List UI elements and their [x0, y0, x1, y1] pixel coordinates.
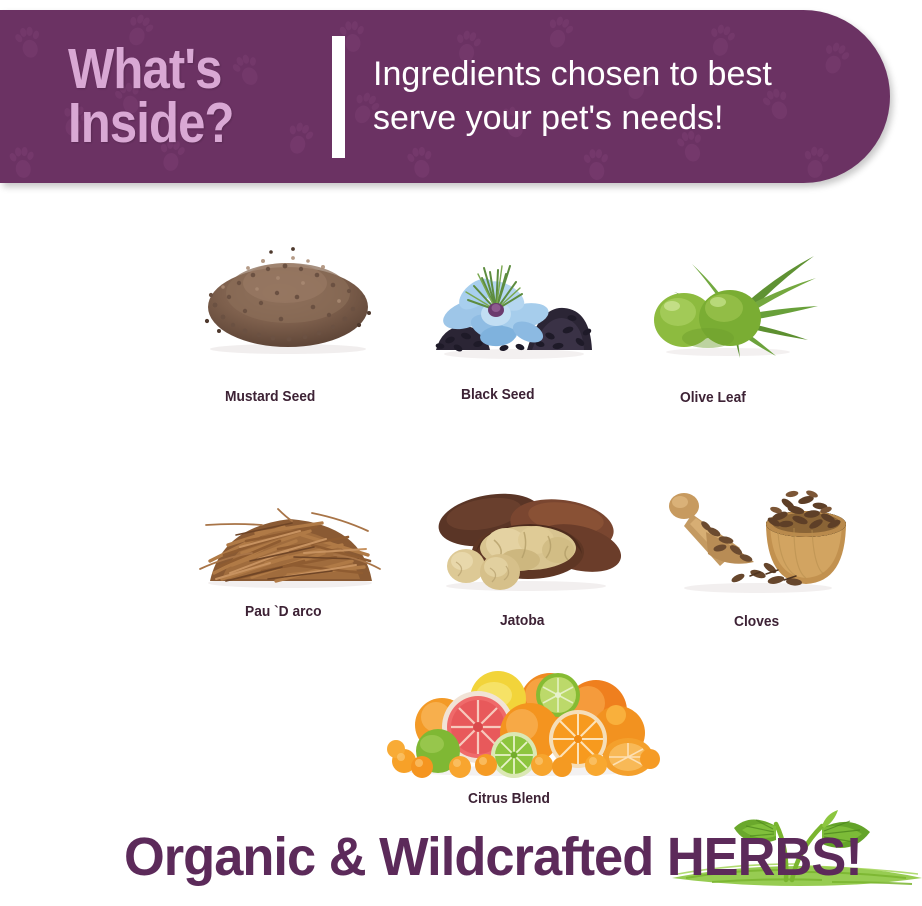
ingredient-label-mustard-seed: Mustard Seed — [225, 389, 315, 405]
footer-tagline: Organic & Wildcrafted HERBS! — [124, 826, 862, 888]
ingredient-label-jatoba: Jatoba — [500, 613, 544, 629]
header-banner: What's Inside? Ingredients chosen to bes… — [0, 10, 890, 183]
cloves-image — [662, 470, 848, 596]
banner-subtitle-line2: serve your pet's needs! — [373, 97, 772, 141]
olive-leaf-image — [648, 248, 818, 360]
ingredient-label-pau-darco: Pau `D arco — [245, 604, 322, 620]
banner-title: What's Inside? — [68, 43, 283, 150]
pau-darco-image — [192, 461, 388, 591]
banner-title-line1: What's — [68, 43, 283, 97]
black-seed-image — [432, 244, 597, 362]
banner-title-line2: Inside? — [68, 97, 283, 151]
ingredient-label-olive-leaf: Olive Leaf — [680, 390, 746, 406]
ingredient-label-black-seed: Black Seed — [461, 387, 535, 403]
infographic-page: What's Inside? Ingredients chosen to bes… — [0, 0, 922, 906]
mustard-seed-image — [193, 231, 383, 356]
citrus-blend-image — [382, 661, 662, 779]
ingredient-label-cloves: Cloves — [734, 614, 779, 630]
banner-subtitle: Ingredients chosen to best serve your pe… — [373, 53, 772, 140]
jatoba-image — [428, 468, 624, 593]
footer-tagline-section: Organic & Wildcrafted HERBS! — [0, 812, 922, 906]
ingredient-label-citrus-blend: Citrus Blend — [468, 791, 550, 807]
banner-subtitle-line1: Ingredients chosen to best — [373, 53, 772, 97]
banner-divider — [332, 36, 345, 158]
